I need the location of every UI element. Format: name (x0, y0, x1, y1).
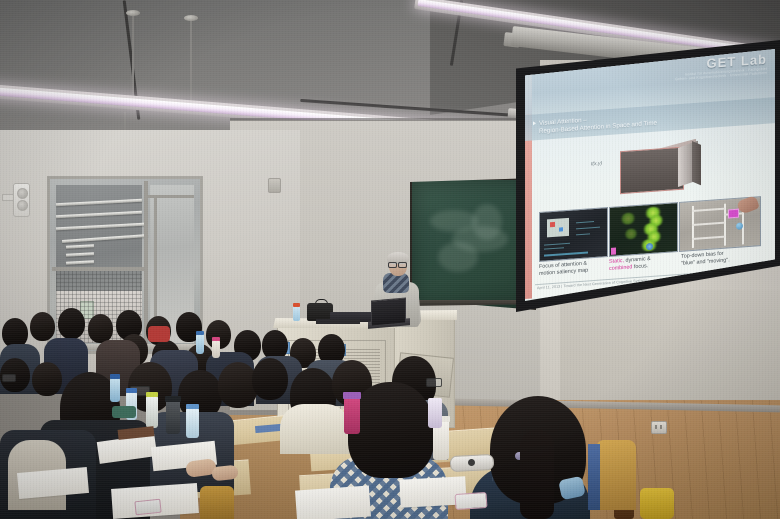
audience-head (32, 362, 62, 396)
top-down-bias-panel (679, 196, 761, 252)
box-front-face (620, 147, 684, 195)
water-bottle (293, 306, 300, 321)
caption-highlight: combined (609, 264, 632, 272)
panel-2-caption: Static, dynamic & combined focus. (609, 254, 677, 273)
presentation-slide: GET Lab Institut für Automatisierungstec… (525, 49, 775, 299)
focus-of-attention-panel (539, 207, 608, 262)
wall-vent (268, 178, 281, 193)
smartphone (134, 499, 161, 516)
magenta-attention-box (728, 209, 739, 219)
spatiotemporal-box-diagram (620, 138, 706, 194)
presenter-laptop (371, 297, 406, 326)
pencil-case-emblem (468, 459, 475, 466)
ponytail (520, 430, 554, 519)
desk-item (112, 406, 136, 418)
bottle-cap (186, 404, 199, 409)
panel-1-caption: Focus of attention & motion saliency map (539, 259, 605, 278)
light-support-rod (190, 20, 192, 112)
bullet-triangle-icon (533, 121, 536, 125)
box-diagram-label: t(x,y) (591, 160, 602, 167)
water-bottle (212, 340, 220, 358)
water-bottle (344, 398, 360, 434)
water-bottle (196, 334, 204, 354)
wall-speaker (13, 183, 30, 217)
smartphone (454, 492, 487, 510)
thermos-bottle (166, 400, 180, 434)
caption-highlight: Static, (609, 258, 624, 265)
wall-outlet (651, 421, 667, 434)
audience-head (58, 308, 85, 339)
saliency-focus-panel (609, 202, 678, 257)
yellow-container (640, 488, 674, 519)
rod-cap (126, 10, 140, 16)
bottle-cap (165, 396, 181, 402)
caption-plain: focus. (632, 263, 648, 270)
bottle-cap (212, 337, 220, 341)
water-bottle (110, 378, 120, 402)
rod-cap (184, 15, 198, 21)
box-side-face-2 (692, 140, 701, 186)
water-bottle (428, 398, 442, 428)
presenter-eyeglasses (388, 262, 407, 266)
speaker-driver-icon (17, 188, 28, 199)
eyeglasses (2, 374, 16, 382)
bottle-cap (343, 392, 361, 399)
lecture-hall-photo: GET Lab Institut für Automatisierungstec… (0, 0, 780, 519)
window-mullion (52, 267, 148, 271)
bottle-cap (196, 331, 204, 335)
panel-marker (611, 247, 616, 254)
cream-jacket (280, 404, 350, 454)
audience-head (252, 358, 288, 400)
audience-head (88, 314, 113, 343)
projection-screen: GET Lab Institut für Automatisierungstec… (525, 49, 775, 301)
chair-frame (588, 444, 600, 510)
av-equipment-secondary (316, 319, 360, 324)
wall-ceiling-seam (230, 118, 560, 121)
slide-left-accent (525, 114, 532, 299)
bottle-cap (126, 388, 137, 393)
eyeglasses (426, 378, 442, 387)
presenter-scarf (383, 273, 409, 293)
chair-back (596, 440, 636, 510)
bottle-cap (110, 374, 120, 379)
audience-head (30, 312, 55, 341)
speaker-driver-icon (17, 200, 28, 211)
chair-back (200, 486, 234, 519)
water-bottle (146, 396, 158, 428)
bottle-cap (293, 303, 300, 307)
red-clothing (148, 326, 170, 342)
water-bottle (186, 408, 199, 438)
bottle-cap (146, 392, 158, 397)
notebook (295, 485, 371, 519)
